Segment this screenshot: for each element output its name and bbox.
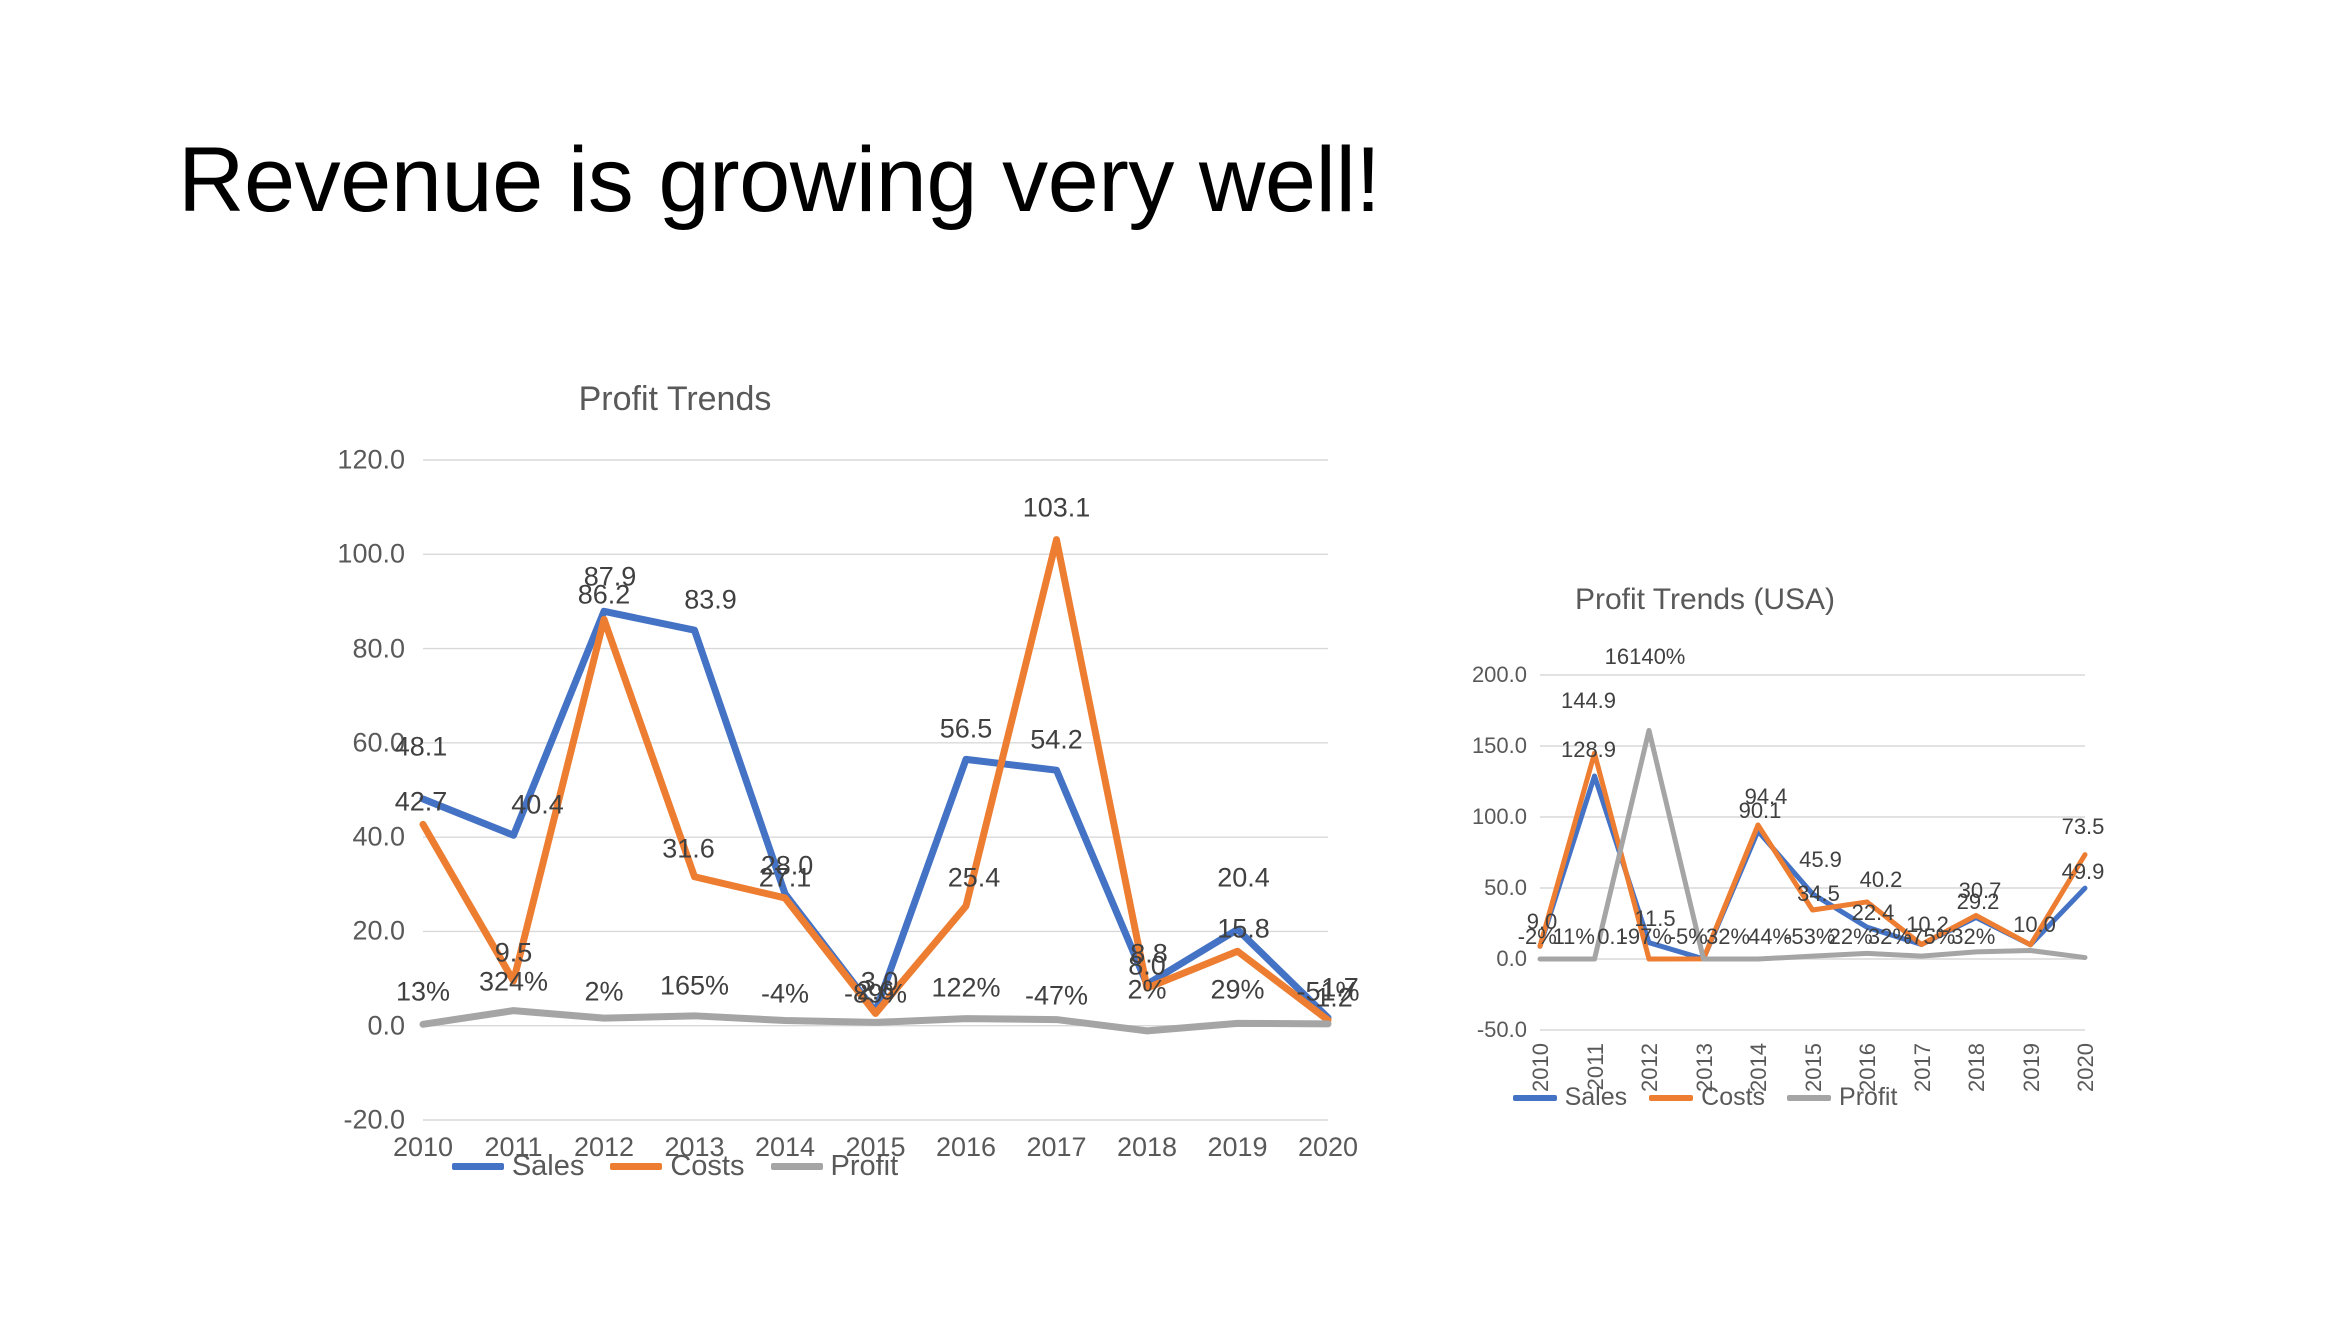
- y-axis-tick: 200.0: [1432, 662, 1527, 688]
- data-label: 42.7: [395, 787, 448, 818]
- data-label: 90.1: [1739, 798, 1782, 824]
- y-axis-tick: -20.0: [295, 1105, 405, 1136]
- legend-item-sales[interactable]: Sales: [1513, 1083, 1628, 1112]
- profit-percent-label: 32%: [1951, 924, 1995, 950]
- plot-area-profit-trends-usa: 200.0150.0100.050.00.0-50.02010201120122…: [1540, 675, 2085, 1030]
- data-label: 29.2: [1957, 889, 2000, 915]
- legend-label: Sales: [1565, 1083, 1628, 1112]
- profit-percent-label: -5%: [1669, 924, 1708, 950]
- legend-item-costs[interactable]: Costs: [610, 1150, 744, 1183]
- data-label: 144.9: [1561, 688, 1616, 714]
- profit-percent-label: -89%: [844, 978, 907, 1009]
- legend-swatch-icon: [452, 1163, 504, 1170]
- data-label: 128.9: [1561, 737, 1616, 763]
- x-axis-tick: 2019: [1193, 1132, 1283, 1163]
- profit-percent-label: -75%: [1904, 924, 1955, 950]
- profit-percent-label: -47%: [1025, 980, 1088, 1011]
- profit-percent-label: 165%: [660, 970, 729, 1001]
- data-label: 16140%: [1605, 644, 1686, 670]
- profit-percent-label: 324%: [479, 966, 548, 997]
- legend-label: Sales: [512, 1150, 585, 1183]
- data-label: 73.5: [2062, 814, 2105, 840]
- data-label: 31.6: [662, 833, 715, 864]
- data-label: 48.1: [395, 731, 448, 762]
- profit-percent-label: 2%: [1127, 974, 1166, 1005]
- legend-label: Costs: [670, 1150, 744, 1183]
- legend-swatch-icon: [1787, 1095, 1831, 1101]
- data-label: 40.4: [511, 790, 564, 821]
- y-axis-tick: 20.0: [295, 916, 405, 947]
- y-axis-tick: 100.0: [295, 539, 405, 570]
- data-label: 103.1: [1023, 492, 1091, 523]
- legend-swatch-icon: [610, 1163, 662, 1170]
- profit-percent-label: 29%: [1210, 974, 1264, 1005]
- y-axis-tick: 80.0: [295, 633, 405, 664]
- chart-profit-trends[interactable]: Profit Trends 120.0100.080.060.040.020.0…: [175, 370, 1175, 1210]
- data-label: 25.4: [948, 862, 1001, 893]
- legend-swatch-icon: [1513, 1095, 1557, 1101]
- profit-percent-label: 11%: [1553, 924, 1595, 950]
- chart-title-profit-trends: Profit Trends: [175, 380, 1175, 419]
- profit-percent-label: 2%: [584, 976, 623, 1007]
- data-label: 10.0: [2013, 912, 2056, 938]
- profit-percent-label: 22%: [1829, 924, 1873, 950]
- data-label: 54.2: [1030, 725, 1083, 756]
- series-line-costs[interactable]: [423, 540, 1328, 1020]
- y-axis-tick: 120.0: [295, 445, 405, 476]
- data-label: 86.2: [578, 580, 631, 611]
- y-axis-tick: 60.0: [295, 727, 405, 758]
- data-label: 40.2: [1860, 867, 1903, 893]
- data-label: 45.9: [1799, 847, 1842, 873]
- legend-label: Profit: [831, 1150, 899, 1183]
- legend-item-profit[interactable]: Profit: [1787, 1083, 1897, 1112]
- slide-canvas: Revenue is growing very well! Profit Tre…: [0, 0, 2350, 1320]
- chart-legend-profit-trends[interactable]: SalesCostsProfit: [175, 1150, 1175, 1183]
- y-axis-tick: 0.0: [1432, 946, 1527, 972]
- y-axis-tick: -50.0: [1432, 1017, 1527, 1043]
- profit-percent-label: 32%: [1706, 924, 1750, 950]
- page-title: Revenue is growing very well!: [178, 120, 1878, 240]
- y-axis-tick: 40.0: [295, 822, 405, 853]
- data-label: 20.4: [1217, 862, 1270, 893]
- x-axis-tick: 2020: [1283, 1132, 1373, 1163]
- profit-percent-label: -4%: [761, 978, 809, 1009]
- legend-label: Profit: [1839, 1083, 1897, 1112]
- legend-item-profit[interactable]: Profit: [771, 1150, 899, 1183]
- data-label: 49.9: [2062, 859, 2105, 885]
- legend-swatch-icon: [771, 1163, 823, 1170]
- y-axis-tick: 150.0: [1432, 733, 1527, 759]
- y-axis-tick: 100.0: [1432, 804, 1527, 830]
- plot-area-profit-trends: 120.0100.080.060.040.020.00.0-20.0201020…: [423, 460, 1328, 1120]
- y-axis-tick: 0.0: [295, 1010, 405, 1041]
- profit-percent-label: -97%: [1621, 924, 1672, 950]
- data-label: 34.5: [1797, 881, 1840, 907]
- data-label: 83.9: [684, 585, 737, 616]
- legend-label: Costs: [1701, 1083, 1765, 1112]
- legend-swatch-icon: [1649, 1095, 1693, 1101]
- legend-item-costs[interactable]: Costs: [1649, 1083, 1765, 1112]
- legend-item-sales[interactable]: Sales: [452, 1150, 585, 1183]
- data-label: 9.5: [495, 937, 533, 968]
- chart-profit-trends-usa[interactable]: Profit Trends (USA) 200.0150.0100.050.00…: [1355, 575, 2055, 1135]
- y-axis-tick: 50.0: [1432, 875, 1527, 901]
- profit-percent-label: 122%: [931, 972, 1000, 1003]
- chart-title-profit-trends-usa: Profit Trends (USA): [1355, 583, 2055, 617]
- data-label: 22.4: [1852, 900, 1895, 926]
- x-axis-tick: 2020: [2073, 1043, 2097, 1092]
- data-label: 15.8: [1217, 914, 1270, 945]
- data-label: 27.1: [759, 862, 812, 893]
- profit-percent-label: -51%: [1296, 976, 1359, 1007]
- chart-legend-profit-trends-usa[interactable]: SalesCostsProfit: [1355, 1083, 2055, 1112]
- profit-percent-label: -2%: [1518, 924, 1557, 950]
- profit-percent-label: 13%: [396, 976, 450, 1007]
- data-label: 56.5: [940, 714, 993, 745]
